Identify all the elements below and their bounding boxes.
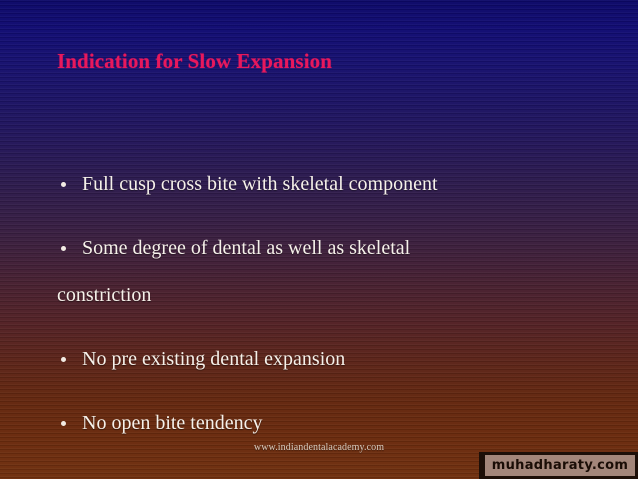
list-item-label: No pre existing dental expansion [82,348,345,370]
bullet-dot-icon [61,246,66,251]
list-item: Full cusp cross bite with skeletal compo… [57,172,587,197]
list-item: No open bite tendency [57,411,587,436]
bullet-dot-icon [61,182,66,187]
list-item-label: Full cusp cross bite with skeletal compo… [82,173,438,195]
watermark-label: muhadharaty.com [492,458,628,473]
bullet-dot-icon [61,421,66,426]
bullet-dot-icon [61,357,66,362]
slide-title: Indication for Slow Expansion [57,48,597,74]
list-item: No pre existing dental expansion [57,347,587,372]
list-item-label: No open bite tendency [82,412,263,434]
list-item-wrapped-line: constriction [57,283,587,308]
watermark-badge: muhadharaty.com [479,452,638,479]
slide-bullet-list: Full cusp cross bite with skeletal compo… [57,172,587,436]
presentation-slide: Indication for Slow Expansion Full cusp … [0,0,638,479]
list-item: Some degree of dental as well as skeleta… [57,236,587,261]
watermark-panel: muhadharaty.com [485,455,635,476]
list-item-label: Some degree of dental as well as skeleta… [82,237,410,259]
